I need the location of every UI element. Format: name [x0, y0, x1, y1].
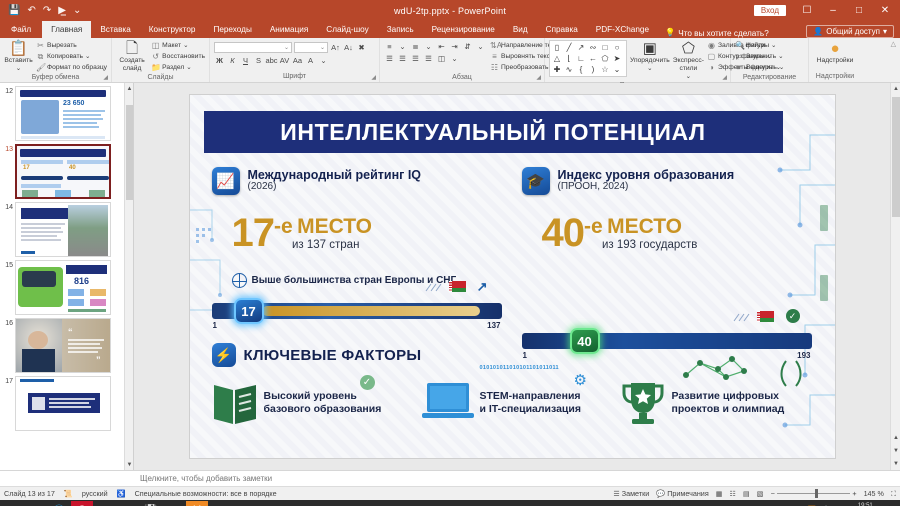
font-color-icon[interactable]: A: [305, 55, 316, 66]
char-spacing-icon[interactable]: AV: [279, 55, 290, 66]
paste-button[interactable]: 📋 Вставить ⌄: [4, 40, 33, 73]
tab-animations[interactable]: Анимация: [261, 21, 317, 38]
new-slide-button[interactable]: 🗋 Создать слайд: [116, 40, 148, 73]
globe-icon: [232, 273, 247, 288]
slide-title-banner: ИНТЕЛЛЕКТУАЛЬНЫЙ ПОТЕНЦИАЛ: [204, 111, 783, 153]
chevron-down-icon: ⌄: [647, 65, 653, 73]
factor-item-stem: 010101011010101101011011 STEM-направлени…: [422, 377, 612, 427]
font-size-input[interactable]: ⌄: [294, 42, 328, 53]
find-label: Найти: [746, 41, 765, 51]
factor-line1: Высокий уровень: [264, 390, 382, 403]
save-icon[interactable]: 💾: [8, 6, 20, 16]
thumbnail-preview-16[interactable]: “ ”: [15, 318, 111, 373]
shape-brace-icon[interactable]: {: [575, 64, 587, 75]
reset-button[interactable]: ↺ Восстановить: [151, 52, 205, 62]
rank-suffix: -е: [584, 215, 603, 238]
card-header: 📈 Международный рейтинг IQ (2026): [212, 167, 502, 195]
shape-more-icon[interactable]: ⌄: [611, 64, 623, 75]
shape-square-icon[interactable]: □: [599, 42, 611, 53]
scroll-down-icon[interactable]: ▼: [891, 458, 900, 470]
collapse-ribbon-icon[interactable]: △: [891, 40, 896, 48]
belarus-flag-icon: [757, 311, 774, 322]
lightning-bolt-icon: ⚡: [212, 343, 236, 367]
rank-of: из 137 стран: [274, 239, 372, 251]
zoom-track[interactable]: [777, 493, 851, 494]
zoom-out-button[interactable]: −: [771, 489, 775, 498]
chevron-down-icon[interactable]: ⌄: [423, 41, 434, 52]
customize-qat-icon[interactable]: ⌄: [73, 6, 81, 16]
ribbon-group-font: ⌄ ⌄ A↑ A↓ ✖ Ж К Ч S abc AV Aa A ⌄ Шрифт: [210, 38, 380, 82]
thumbnail-scrollbar[interactable]: ▲ ▼: [124, 83, 133, 470]
scroll-up-icon[interactable]: ▲: [891, 83, 900, 95]
quick-styles-label: Экспресс-стили: [673, 57, 704, 73]
tab-transitions[interactable]: Переходы: [204, 21, 260, 38]
paste-label: Вставить: [4, 57, 32, 65]
language-indicator[interactable]: русский: [82, 489, 108, 498]
reading-view-icon[interactable]: ▤: [743, 489, 750, 498]
shape-cross-icon[interactable]: ✚: [551, 64, 563, 75]
tab-help[interactable]: Справка: [537, 21, 587, 38]
slide-editing-pane[interactable]: ИНТЕЛЛЕКТУАЛЬНЫЙ ПОТЕНЦИАЛ 📈 Международн…: [134, 83, 890, 470]
ribbon-group-slides: 🗋 Создать слайд ◫ Макет ⌄ ↺ Восстановить…: [112, 38, 210, 82]
chevron-down-icon: ⌄: [183, 41, 189, 51]
cut-label: Вырезать: [47, 41, 77, 51]
gauge-min: 1: [213, 321, 217, 330]
text-direction-icon: ⇅A: [490, 41, 499, 51]
numbering-icon[interactable]: ≣: [410, 41, 421, 52]
cut-icon: ✂: [36, 41, 45, 51]
work-area: 12 23 650 13 17 40: [0, 83, 900, 470]
thumbnail-number: 17: [2, 376, 13, 431]
arrange-label: Упорядочить: [630, 57, 670, 65]
copy-icon: ⧉: [36, 52, 45, 62]
tell-me-box[interactable]: 💡 Что вы хотите сделать?: [658, 28, 769, 38]
card-education-index: 🎓 Индекс уровня образования (ПРООН, 2024…: [522, 167, 822, 195]
addins-label: Надстройки: [817, 57, 854, 65]
check-circle-icon: ✓: [786, 309, 800, 323]
factor-item-education: Высокий уровень базового образования ✓: [212, 377, 407, 427]
thumbnail-preview-12[interactable]: 23 650: [15, 86, 111, 141]
accessibility-status[interactable]: Специальные возможности: все в порядке: [135, 489, 277, 498]
columns-icon[interactable]: ◫: [436, 53, 447, 64]
arrange-button[interactable]: ▣ Упорядочить ⌄: [630, 40, 670, 73]
shape-effects-icon: ◑: [707, 63, 716, 73]
thumbnail-item[interactable]: 16 “ ”: [0, 315, 133, 373]
rank-word: МЕСТО: [607, 215, 682, 238]
gauge-knob: 40: [570, 328, 600, 354]
chevron-down-icon: ⌄: [16, 65, 22, 73]
redo-icon[interactable]: ↷: [43, 6, 51, 16]
align-left-icon[interactable]: ☰: [384, 53, 395, 64]
shadow-icon[interactable]: S: [253, 55, 264, 66]
chevron-down-icon: ⌄: [320, 44, 325, 51]
chevron-down-icon: ⌄: [779, 63, 785, 73]
card-subheading: (2026): [248, 181, 422, 193]
copy-button[interactable]: ⧉ Копировать ⌄: [36, 52, 107, 62]
check-circle-icon: ✓: [360, 375, 375, 390]
tell-me-label: Что вы хотите сделать?: [678, 29, 769, 38]
rank-number: 17: [232, 213, 275, 253]
gauge-tick-lines-icon: [424, 283, 446, 293]
cut-button[interactable]: ✂ Вырезать: [36, 41, 107, 51]
restore-button[interactable]: □: [846, 5, 872, 16]
layout-label: Макет: [162, 41, 181, 51]
card-heading: Индекс уровня образования: [558, 169, 735, 181]
gear-icon: ⚙: [574, 371, 587, 389]
slide-counter[interactable]: Слайд 13 из 17: [4, 489, 55, 498]
tab-view[interactable]: Вид: [504, 21, 537, 38]
card-iq-rating: 📈 Международный рейтинг IQ (2026): [212, 167, 502, 195]
tab-pdf-xchange[interactable]: PDF-XChange: [587, 21, 658, 38]
belarus-flag-icon: [449, 281, 466, 292]
file-explorer-icon[interactable]: 📁: [25, 501, 47, 506]
tab-design[interactable]: Конструктор: [140, 21, 205, 38]
gauge-track: [522, 333, 812, 349]
normal-view-icon[interactable]: ▦: [716, 489, 723, 498]
format-painter-label: Формат по образцу: [47, 63, 107, 73]
chevron-down-icon[interactable]: ⌄: [475, 41, 486, 52]
share-label: Общий доступ: [826, 27, 880, 36]
factor-line1: Развитие цифровых: [672, 390, 785, 403]
thumbnail-item[interactable]: 17: [0, 373, 133, 431]
share-button[interactable]: 👤 Общий доступ ▾: [806, 25, 894, 38]
factor-line2: базового образования: [264, 403, 382, 416]
addins-icon: ●: [830, 41, 839, 57]
thumbnail-item-selected[interactable]: 13 17 40: [0, 141, 133, 199]
thumbnail-scroll-handle[interactable]: [126, 105, 133, 200]
thumbnail-item[interactable]: 14: [0, 199, 133, 257]
rank-block-iq: 17 -е МЕСТО из 137 стран: [232, 213, 372, 253]
gauge-education: 40 1 193 ✓: [522, 325, 812, 355]
chevron-down-icon: ⌄: [686, 73, 692, 81]
save-app-icon[interactable]: 💾: [140, 501, 162, 506]
accessibility-icon: ♿: [117, 489, 126, 498]
bold-icon[interactable]: Ж: [214, 55, 225, 66]
laurel-icon: [778, 359, 804, 389]
replace-button[interactable]: ⇄ Заменить ⌄: [735, 52, 784, 62]
thumbnail-item[interactable]: 12 23 650: [0, 83, 133, 141]
yandex-icon[interactable]: Y: [186, 501, 208, 506]
group-label-font: Шрифт: [214, 72, 375, 82]
grow-font-icon[interactable]: A↑: [330, 42, 341, 53]
account-icon[interactable]: ☐: [794, 5, 820, 16]
slide-thumbnail-pane[interactable]: 12 23 650 13 17 40: [0, 83, 134, 470]
strikethrough-icon[interactable]: abc: [266, 55, 277, 66]
gauge-knob: 17: [234, 298, 264, 324]
font-name-input[interactable]: ⌄: [214, 42, 292, 53]
paste-icon: 📋: [9, 41, 28, 57]
chevron-down-icon: ⌄: [284, 44, 289, 51]
thumbnail-preview-14[interactable]: [15, 202, 111, 257]
factor-line2: проектов и олимпиад: [672, 403, 785, 416]
undo-icon[interactable]: ↶: [27, 6, 35, 16]
quick-styles-icon: ⬠: [682, 41, 695, 57]
notes-pane[interactable]: Щелкните, чтобы добавить заметки: [0, 470, 900, 486]
shape-rect-icon[interactable]: ▯: [551, 42, 563, 53]
shape-bracket-icon[interactable]: ⌊: [563, 53, 575, 64]
underline-icon[interactable]: Ч: [240, 55, 251, 66]
ribbon-group-addins: ● Надстройки Надстройки: [809, 38, 861, 82]
rank-block-education: 40 -е МЕСТО из 193 государств: [542, 213, 698, 253]
sign-in-button[interactable]: Вход: [754, 5, 786, 16]
shape-curve-icon[interactable]: ∾: [587, 42, 599, 53]
replace-label: Заменить: [746, 52, 776, 62]
thumbnail-number: 13: [2, 144, 13, 199]
card-heading: Международный рейтинг IQ: [248, 169, 422, 181]
start-slideshow-icon[interactable]: ▶̲: [58, 6, 66, 16]
opera-icon[interactable]: O: [71, 501, 93, 506]
thumbnail-preview-17[interactable]: [15, 376, 111, 431]
group-label-editing: Редактирование: [735, 73, 804, 82]
tab-insert[interactable]: Вставка: [91, 21, 139, 38]
slide-sorter-icon[interactable]: ☷: [730, 489, 736, 498]
spellcheck-icon[interactable]: 📜: [64, 489, 73, 498]
line-spacing-icon[interactable]: ⇵: [462, 41, 473, 52]
windows-taskbar: ▦ 📁 ⓐ O ● ▣ 💾 ● Y ▲ 📶 🔊 RU 19:51 25.02.2…: [0, 500, 900, 506]
shape-line-icon[interactable]: ╱: [563, 42, 575, 53]
select-button[interactable]: ☛ Выделить ⌄: [735, 63, 784, 73]
thumbnail-number: 14: [2, 202, 13, 257]
notes-button[interactable]: ☰ Заметки: [613, 489, 649, 498]
justify-icon[interactable]: ☰: [423, 53, 434, 64]
shape-circle-icon[interactable]: ○: [611, 42, 623, 53]
rank-number: 40: [542, 213, 585, 253]
network-graph-icon: [680, 355, 752, 381]
section-label: Раздел: [162, 63, 184, 73]
arrow-up-right-icon: ↗: [477, 279, 488, 295]
close-button[interactable]: ✕: [872, 5, 898, 16]
reset-label: Восстановить: [162, 52, 205, 62]
drawing-dialog-launcher[interactable]: ◢: [722, 74, 727, 81]
antivirus-icon[interactable]: ●: [163, 501, 185, 506]
powerpoint-icon[interactable]: ▣: [117, 501, 139, 506]
paragraph-dialog-launcher[interactable]: ◢: [536, 74, 541, 81]
tab-record[interactable]: Запись: [378, 21, 423, 38]
chevron-down-icon[interactable]: ⌄: [449, 53, 460, 64]
ribbon-group-paragraph: ≡ ⌄ ≣ ⌄ ⇤ ⇥ ⇵ ⌄ ☰ ☰ ☰ ☰ ◫ ⌄: [380, 38, 545, 82]
shape-connector-icon[interactable]: ∟: [575, 53, 587, 64]
arrange-icon: ▣: [643, 41, 657, 57]
ribbon-group-drawing: ▯ ╱ ↗ ∾ □ ○ △ ⌊ ∟ ← ⬠ ➤ ✚ ∿ { ) ☆: [545, 38, 731, 82]
trophy-icon: [620, 377, 666, 427]
thumbnail-preview-13[interactable]: 17 40: [15, 144, 111, 199]
select-label: Выделить: [746, 63, 777, 73]
thumbnail-preview-15[interactable]: 816: [15, 260, 111, 315]
gauge-min: 1: [523, 351, 527, 360]
shape-triangle-icon[interactable]: △: [551, 53, 563, 64]
shape-chevron-icon[interactable]: ➤: [611, 53, 623, 64]
comments-button-label: Примечания: [667, 489, 709, 498]
gauge-tick-lines-icon: [732, 313, 754, 323]
smartart-icon: ☷: [490, 63, 499, 73]
gauge-iq: 17 1 137 ↗: [212, 295, 502, 325]
fit-slide-icon[interactable]: ⛶: [891, 489, 896, 499]
tab-slideshow[interactable]: Слайд-шоу: [317, 21, 377, 38]
ribbon-group-editing: 🔍 Найти ⇄ Заменить ⌄ ☛ Выделить ⌄ Редакт…: [731, 38, 809, 82]
status-bar: Слайд 13 из 17 📜 русский ♿ Специальные в…: [0, 486, 900, 500]
key-factors-title: КЛЮЧЕВЫЕ ФАКТОРЫ: [244, 347, 422, 364]
quick-styles-button[interactable]: ⬠ Экспресс-стили ⌄: [673, 40, 704, 81]
card-header: 🎓 Индекс уровня образования (ПРООН, 2024…: [522, 167, 822, 195]
chart-growth-icon: 📈: [212, 167, 240, 195]
shapes-gallery[interactable]: ▯ ╱ ↗ ∾ □ ○ △ ⌊ ∟ ← ⬠ ➤ ✚ ∿ { ) ☆: [549, 40, 627, 77]
start-icon[interactable]: ▦: [2, 501, 24, 506]
group-label-clipboard: Буфер обмена: [4, 73, 107, 82]
search-icon: 🔍: [735, 41, 744, 51]
slide-scrollbar[interactable]: ▲ ▲ ▼ ▼: [890, 83, 900, 470]
next-slide-icon[interactable]: ▼: [891, 445, 900, 457]
quick-access-toolbar: 💾 ↶ ↷ ▶̲ ⌄: [0, 6, 81, 16]
zoom-handle[interactable]: [815, 489, 818, 498]
align-center-icon[interactable]: ☰: [397, 53, 408, 64]
layout-button[interactable]: ◫ Макет ⌄: [151, 41, 205, 51]
shape-wave-icon[interactable]: ∿: [563, 64, 575, 75]
title-bar: 💾 ↶ ↷ ▶̲ ⌄ wdU-2tp.pptx - PowerPoint Вхо…: [0, 0, 900, 21]
shape-star-icon[interactable]: ☆: [599, 64, 611, 75]
clipboard-dialog-launcher[interactable]: ◢: [103, 74, 108, 81]
ribbon-tabs: Файл Главная Вставка Конструктор Переход…: [0, 21, 900, 38]
shape-paren-icon[interactable]: ): [587, 64, 599, 75]
section-button[interactable]: 📁 Раздел ⌄: [151, 63, 205, 73]
section-icon: 📁: [151, 63, 160, 73]
format-painter-button[interactable]: 🖌 Формат по образцу: [36, 63, 107, 73]
copy-label: Копировать: [47, 52, 83, 62]
find-button[interactable]: 🔍 Найти: [735, 41, 784, 51]
decrease-indent-icon[interactable]: ⇤: [436, 41, 447, 52]
slideshow-icon[interactable]: ▧: [757, 489, 764, 498]
window-controls: Вход ☐ – □ ✕: [754, 5, 900, 16]
shape-fill-icon: ◉: [707, 41, 716, 51]
previous-slide-icon[interactable]: ▲: [891, 432, 900, 444]
tab-file[interactable]: Файл: [0, 21, 42, 38]
scroll-down-icon[interactable]: ▼: [125, 459, 134, 470]
chevron-down-icon: ⌄: [85, 52, 91, 62]
share-icon: 👤: [813, 27, 823, 36]
gauge-max: 137: [487, 321, 500, 330]
replace-icon: ⇄: [735, 52, 744, 62]
thumbnail-number: 16: [2, 318, 13, 373]
factor-line1: STEM-направления: [480, 390, 581, 403]
status-right: ☰ Заметки 💬 Примечания ▦ ☷ ▤ ▧ − + 145 %…: [613, 489, 896, 499]
zoom-level[interactable]: 145 %: [864, 489, 884, 498]
chevron-down-icon[interactable]: ⌄: [397, 41, 408, 52]
comments-button[interactable]: 💬 Примечания: [656, 489, 708, 498]
italic-icon[interactable]: К: [227, 55, 238, 66]
minimize-button[interactable]: –: [820, 5, 846, 16]
rank-word: МЕСТО: [297, 215, 372, 238]
align-right-icon[interactable]: ☰: [410, 53, 421, 64]
group-label-slides: Слайды: [116, 73, 205, 82]
firefox-icon[interactable]: ●: [94, 501, 116, 506]
new-slide-label: Создать слайд: [116, 57, 148, 73]
shape-arrow-icon[interactable]: ↗: [575, 42, 587, 53]
shape-pentagon-icon[interactable]: ⬠: [599, 53, 611, 64]
group-label-paragraph: Абзац: [384, 73, 540, 82]
card-subheading: (ПРООН, 2024): [558, 181, 735, 193]
addins-button[interactable]: ● Надстройки: [813, 40, 857, 65]
thumbnail-number: 12: [2, 86, 13, 141]
tab-review[interactable]: Рецензирование: [423, 21, 504, 38]
factor-line2: и IT-специализация: [480, 403, 581, 416]
chevron-down-icon[interactable]: ⌄: [318, 55, 329, 66]
reset-icon: ↺: [151, 52, 160, 62]
thumbnail-number: 15: [2, 260, 13, 315]
binary-string: 010101011010101101011011: [480, 365, 559, 371]
note-europe-cis: Выше большинства стран Европы и СНГ: [232, 273, 457, 288]
shrink-font-icon[interactable]: A↓: [343, 42, 354, 53]
format-painter-icon: 🖌: [36, 63, 45, 73]
rank-suffix: -е: [274, 215, 293, 238]
notes-button-label: Заметки: [622, 489, 650, 498]
align-text-icon: ≡: [490, 52, 499, 62]
graduation-cap-icon: 🎓: [522, 167, 550, 195]
laptop-icon: [422, 377, 474, 427]
rank-of: из 193 государств: [584, 239, 697, 251]
edge-icon[interactable]: ⓐ: [48, 501, 70, 506]
chevron-down-icon: ▾: [883, 27, 887, 36]
thumbnail-item[interactable]: 15 816: [0, 257, 133, 315]
lightbulb-icon: 💡: [665, 28, 675, 38]
slide-scroll-handle[interactable]: [892, 97, 900, 217]
ribbon: 📋 Вставить ⌄ ✂ Вырезать ⧉ Копировать ⌄ 🖌…: [0, 38, 900, 83]
open-book-icon: [212, 377, 258, 427]
notes-placeholder: Щелкните, чтобы добавить заметки: [140, 474, 272, 483]
chevron-down-icon: ⌄: [186, 63, 192, 73]
shape-outline-icon: ▢: [707, 52, 716, 62]
increase-indent-icon[interactable]: ⇥: [449, 41, 460, 52]
shape-arrowleft-icon[interactable]: ←: [587, 53, 599, 64]
slide-title: ИНТЕЛЛЕКТУАЛЬНЫЙ ПОТЕНЦИАЛ: [280, 119, 705, 146]
clear-format-icon[interactable]: ✖: [356, 42, 367, 53]
group-label-addins: Надстройки: [813, 72, 857, 82]
zoom-in-button[interactable]: +: [852, 489, 856, 498]
select-icon: ☛: [735, 63, 744, 73]
scroll-up-icon[interactable]: ▲: [125, 83, 134, 94]
factor-item-digital: Развитие цифровых проектов и олимпиад: [620, 377, 815, 427]
font-dialog-launcher[interactable]: ◢: [371, 74, 376, 81]
tab-home[interactable]: Главная: [42, 21, 91, 38]
bullets-icon[interactable]: ≡: [384, 41, 395, 52]
layout-icon: ◫: [151, 41, 160, 51]
gauge-fill: [262, 306, 480, 316]
change-case-icon[interactable]: Aa: [292, 55, 303, 66]
ribbon-group-clipboard: 📋 Вставить ⌄ ✂ Вырезать ⧉ Копировать ⌄ 🖌…: [0, 38, 112, 82]
new-slide-icon: 🗋: [126, 41, 138, 57]
current-slide[interactable]: ИНТЕЛЛЕКТУАЛЬНЫЙ ПОТЕНЦИАЛ 📈 Международн…: [190, 95, 835, 458]
chevron-down-icon: ⌄: [778, 52, 784, 62]
zoom-slider[interactable]: − +: [771, 489, 857, 498]
key-factors-header: ⚡ КЛЮЧЕВЫЕ ФАКТОРЫ: [212, 343, 422, 367]
